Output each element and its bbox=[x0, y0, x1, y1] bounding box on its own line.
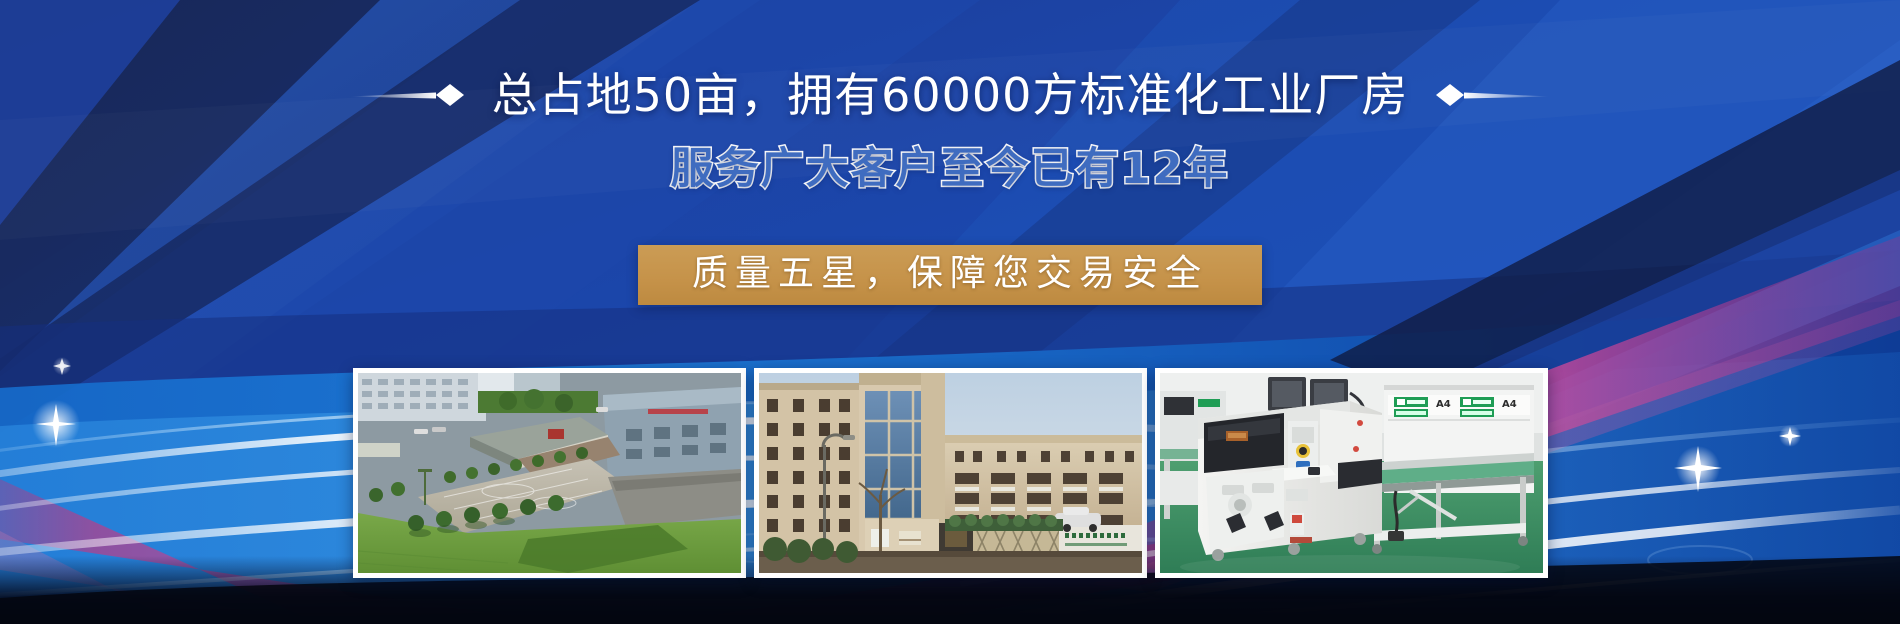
badge-row: 质量五星，保障您交易安全 bbox=[0, 245, 1900, 305]
photo-office-building-front bbox=[759, 373, 1142, 573]
subline-row: 服务广大客户至今已有12年 bbox=[0, 140, 1900, 198]
quality-badge-text: 质量五星，保障您交易安全 bbox=[692, 253, 1208, 294]
photo-card-smt-production-line[interactable]: A4 A4 bbox=[1155, 368, 1548, 578]
shelf-label bbox=[1394, 397, 1428, 417]
shelf-label bbox=[1460, 397, 1494, 417]
svg-text:A4: A4 bbox=[1502, 399, 1517, 410]
quality-badge: 质量五星，保障您交易安全 bbox=[638, 245, 1262, 305]
headline-row: 总占地50亩，拥有60000方标准化工业厂房 bbox=[0, 62, 1900, 128]
svg-text:A4: A4 bbox=[1436, 399, 1451, 410]
office-building-front-illustration bbox=[759, 373, 1142, 573]
subline-text: 服务广大客户至今已有12年 bbox=[671, 148, 1230, 191]
promo-banner: 总占地50亩，拥有60000方标准化工业厂房 服务广大客户至今已有12年 质量五… bbox=[0, 0, 1900, 624]
aerial-factory-campus-illustration bbox=[358, 373, 741, 573]
headline-text: 总占地50亩，拥有60000方标准化工业厂房 bbox=[492, 72, 1409, 118]
arrow-right-diamond-icon bbox=[350, 82, 466, 108]
photo-card-aerial-factory-campus[interactable] bbox=[353, 368, 746, 578]
arrow-left-diamond-icon bbox=[1434, 82, 1550, 108]
smt-production-line-illustration: A4 A4 bbox=[1160, 373, 1543, 573]
photo-card-office-building-front[interactable] bbox=[754, 368, 1147, 578]
photo-strip: A4 A4 bbox=[0, 368, 1900, 578]
photo-aerial-factory-campus bbox=[358, 373, 741, 573]
photo-smt-production-line: A4 A4 bbox=[1160, 373, 1543, 573]
